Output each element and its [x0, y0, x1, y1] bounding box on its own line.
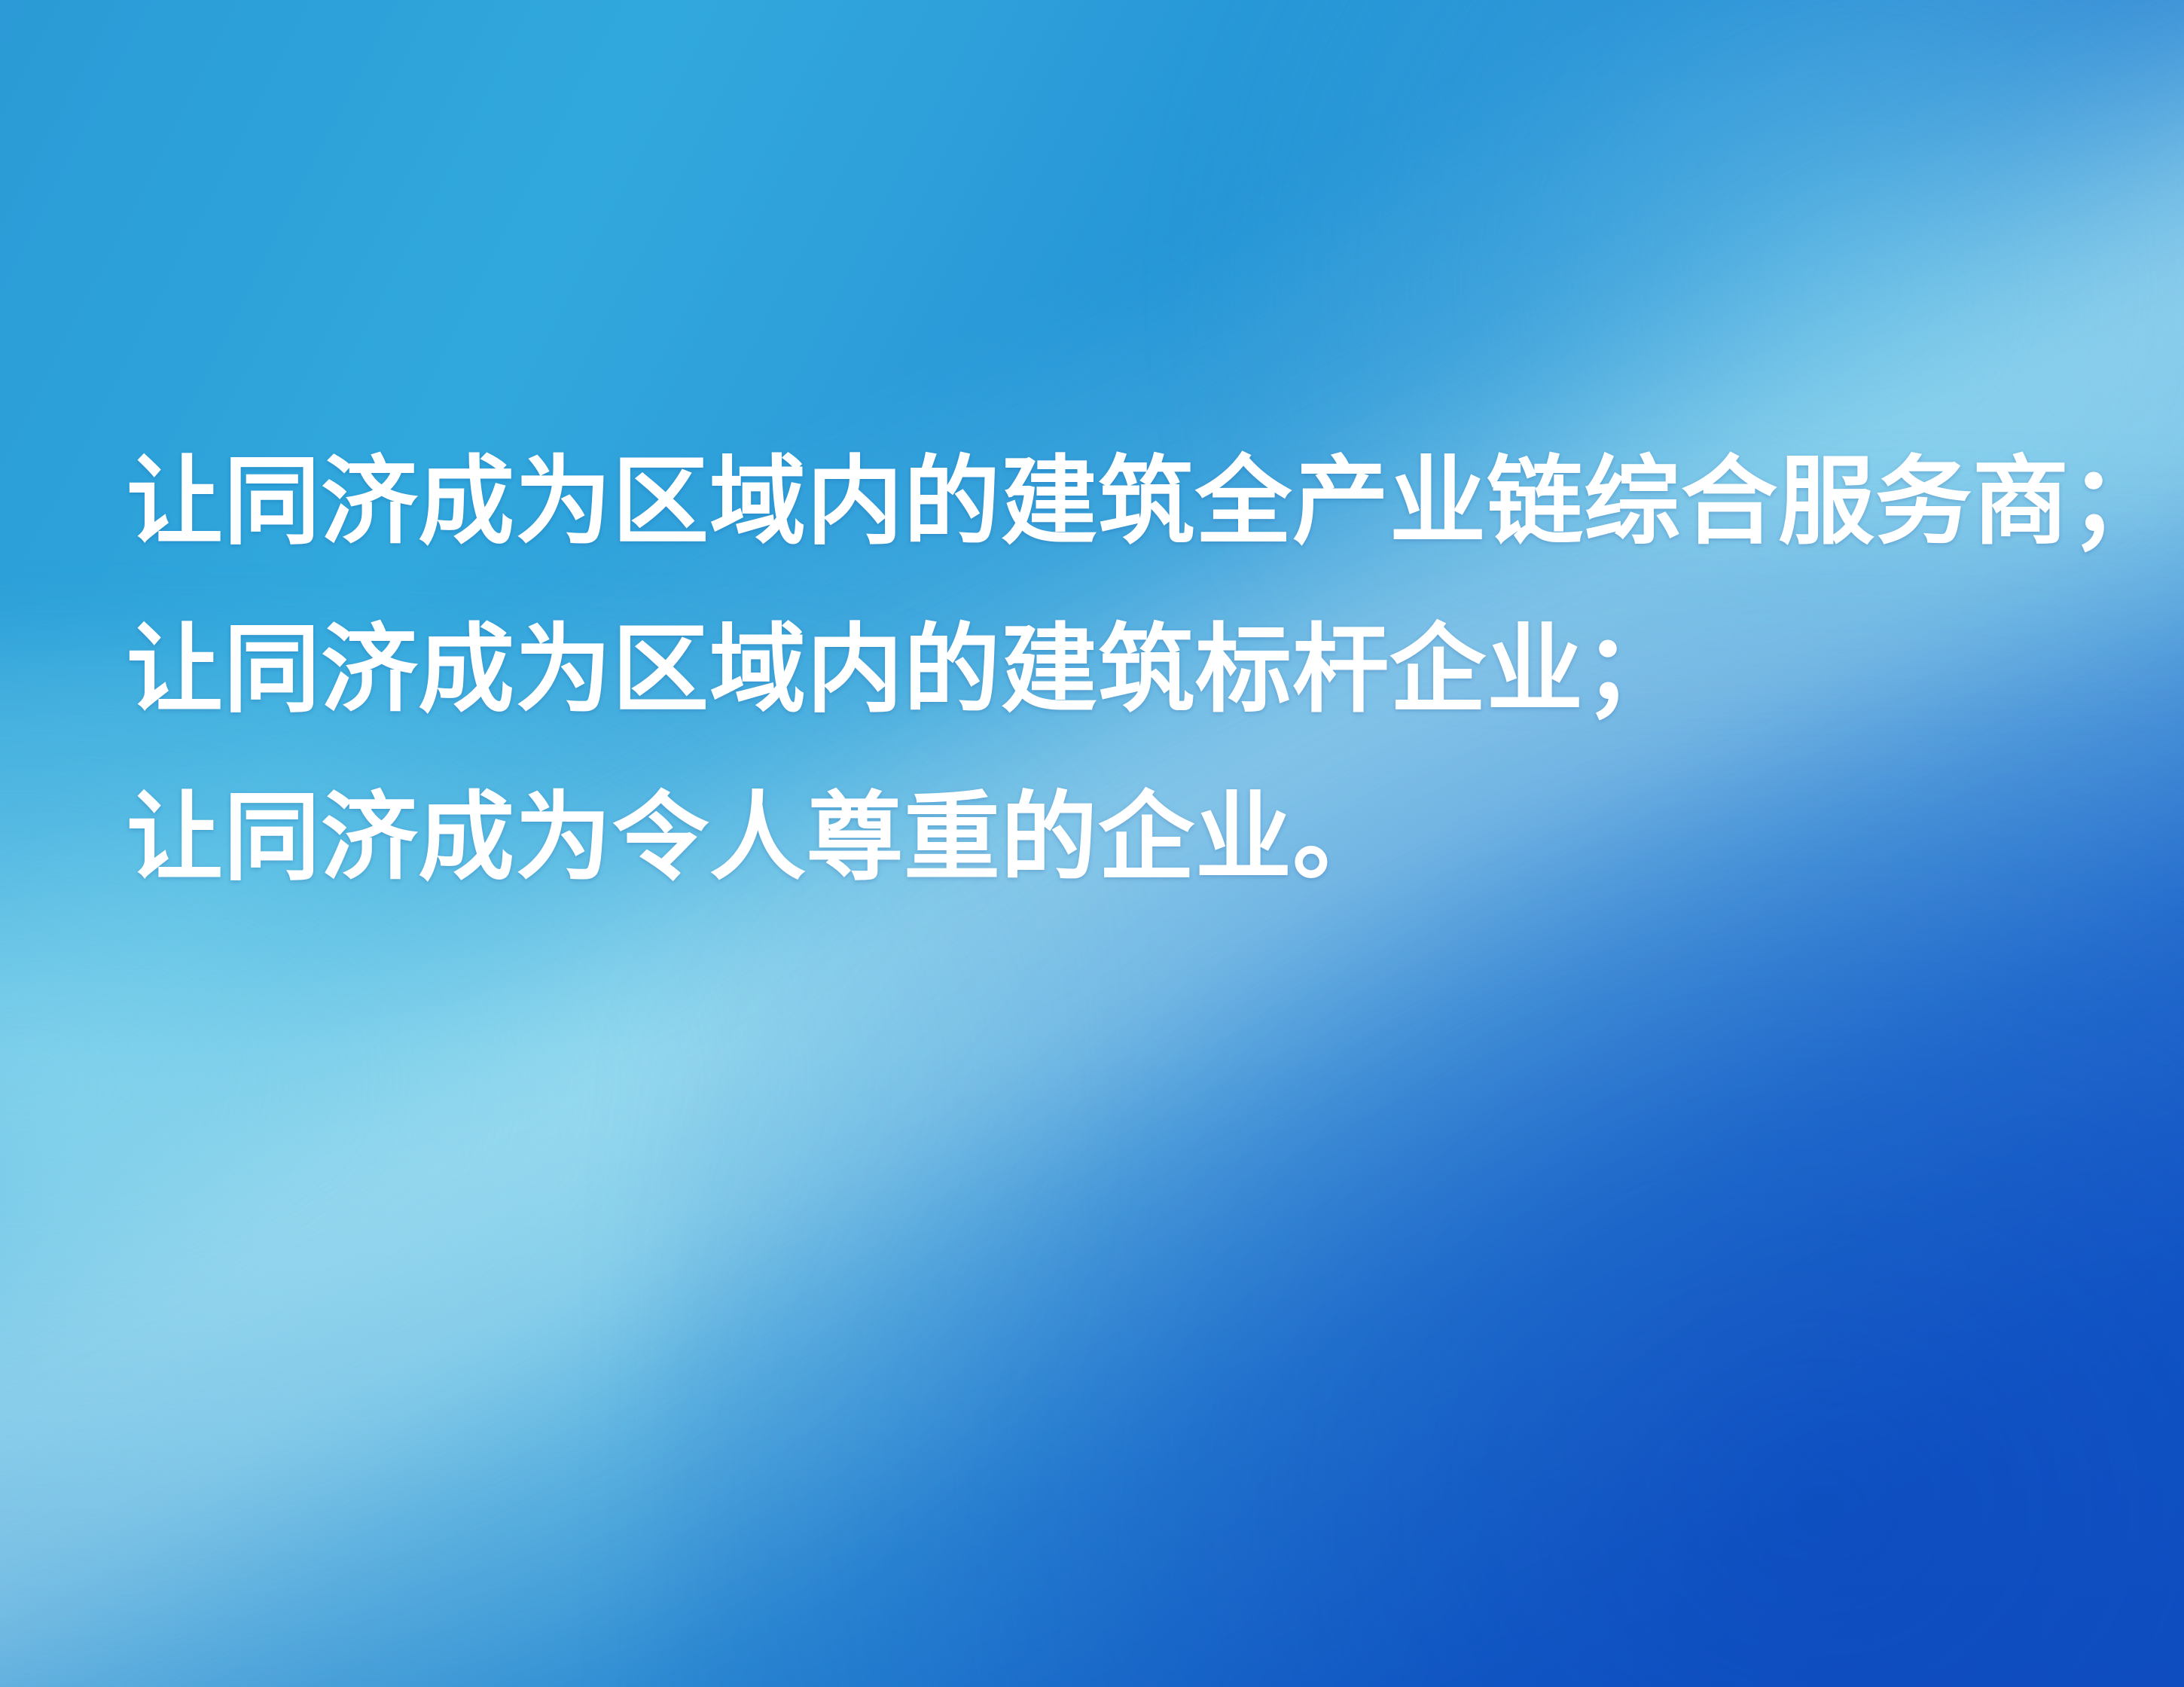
slide-text-block: 让同济成为区域内的建筑全产业链综合服务商； 让同济成为区域内的建筑标杆企业； 让…: [127, 452, 2085, 888]
slide-line-2: 让同济成为区域内的建筑标杆企业；: [127, 620, 2085, 720]
slide-line-3: 让同济成为令人尊重的企业。: [127, 788, 2085, 888]
presentation-slide: 让同济成为区域内的建筑全产业链综合服务商； 让同济成为区域内的建筑标杆企业； 让…: [0, 0, 2184, 1687]
slide-line-1: 让同济成为区域内的建筑全产业链综合服务商；: [127, 452, 2085, 552]
